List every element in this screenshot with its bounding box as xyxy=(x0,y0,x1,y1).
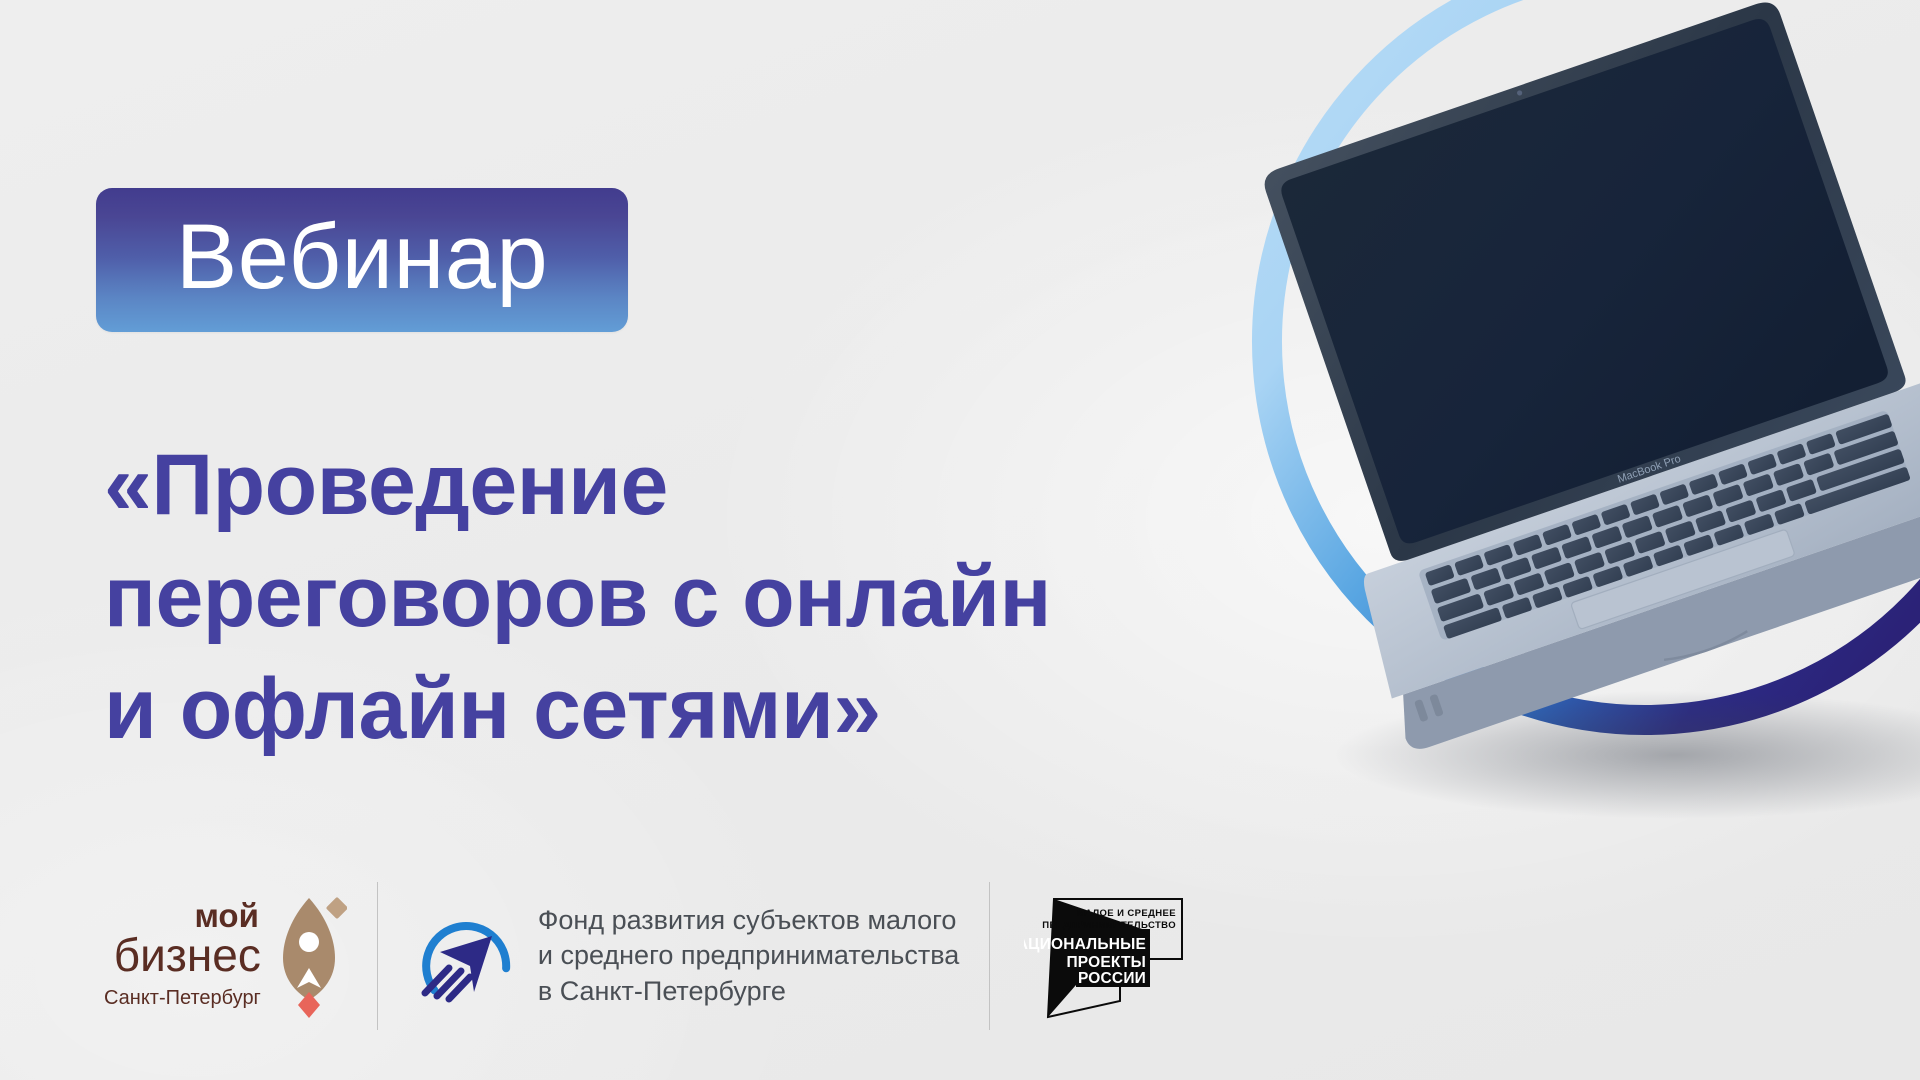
fund-arrow-circle-icon xyxy=(408,900,520,1012)
footer-divider-1 xyxy=(377,882,378,1030)
laptop-brand-label: MacBook Pro xyxy=(1616,453,1682,486)
webinar-badge-label: Вебинар xyxy=(176,211,548,303)
my-business-city: Санкт-Петербург xyxy=(104,984,261,1012)
rocket-pin-icon xyxy=(271,892,347,1020)
my-business-logo: мой бизнес Санкт-Петербург xyxy=(104,892,347,1020)
footer-divider-2 xyxy=(989,882,990,1030)
webinar-poster: MacBook Pro Вебинар «Проведение перегово… xyxy=(0,0,1920,1080)
decorative-arc xyxy=(1255,0,1920,840)
np-small-line-2: ПРЕДПРИНИМАТЕЛЬСТВО xyxy=(1043,920,1177,931)
my-business-word-top: мой xyxy=(194,900,258,931)
laptop-illustration: MacBook Pro xyxy=(1205,55,1920,845)
np-main-line-3: РОССИИ xyxy=(1078,970,1146,987)
webinar-badge: Вебинар xyxy=(96,188,628,332)
np-main-line-1: НАЦИОНАЛЬНЫЕ xyxy=(1024,936,1146,953)
my-business-word-main: бизнес xyxy=(114,932,261,979)
national-projects-logo: МАЛОЕ И СРЕДНЕЕ ПРЕДПРИНИМАТЕЛЬСТВО НАЦИ… xyxy=(1024,881,1204,1031)
np-main-line-2: ПРОЕКТЫ xyxy=(1067,954,1147,971)
np-small-line-1: МАЛОЕ И СРЕДНЕЕ xyxy=(1077,908,1176,919)
footer-logos: мой бизнес Санкт-Петербург xyxy=(104,876,1204,1036)
my-business-wordmark: мой бизнес Санкт-Петербург xyxy=(104,900,261,1011)
fund-logo: Фонд развития субъектов малого и среднег… xyxy=(408,900,959,1012)
fund-name: Фонд развития субъектов малого и среднег… xyxy=(538,903,959,1008)
page-title: «Проведение переговоров с онлайн и офлай… xyxy=(104,430,1284,765)
